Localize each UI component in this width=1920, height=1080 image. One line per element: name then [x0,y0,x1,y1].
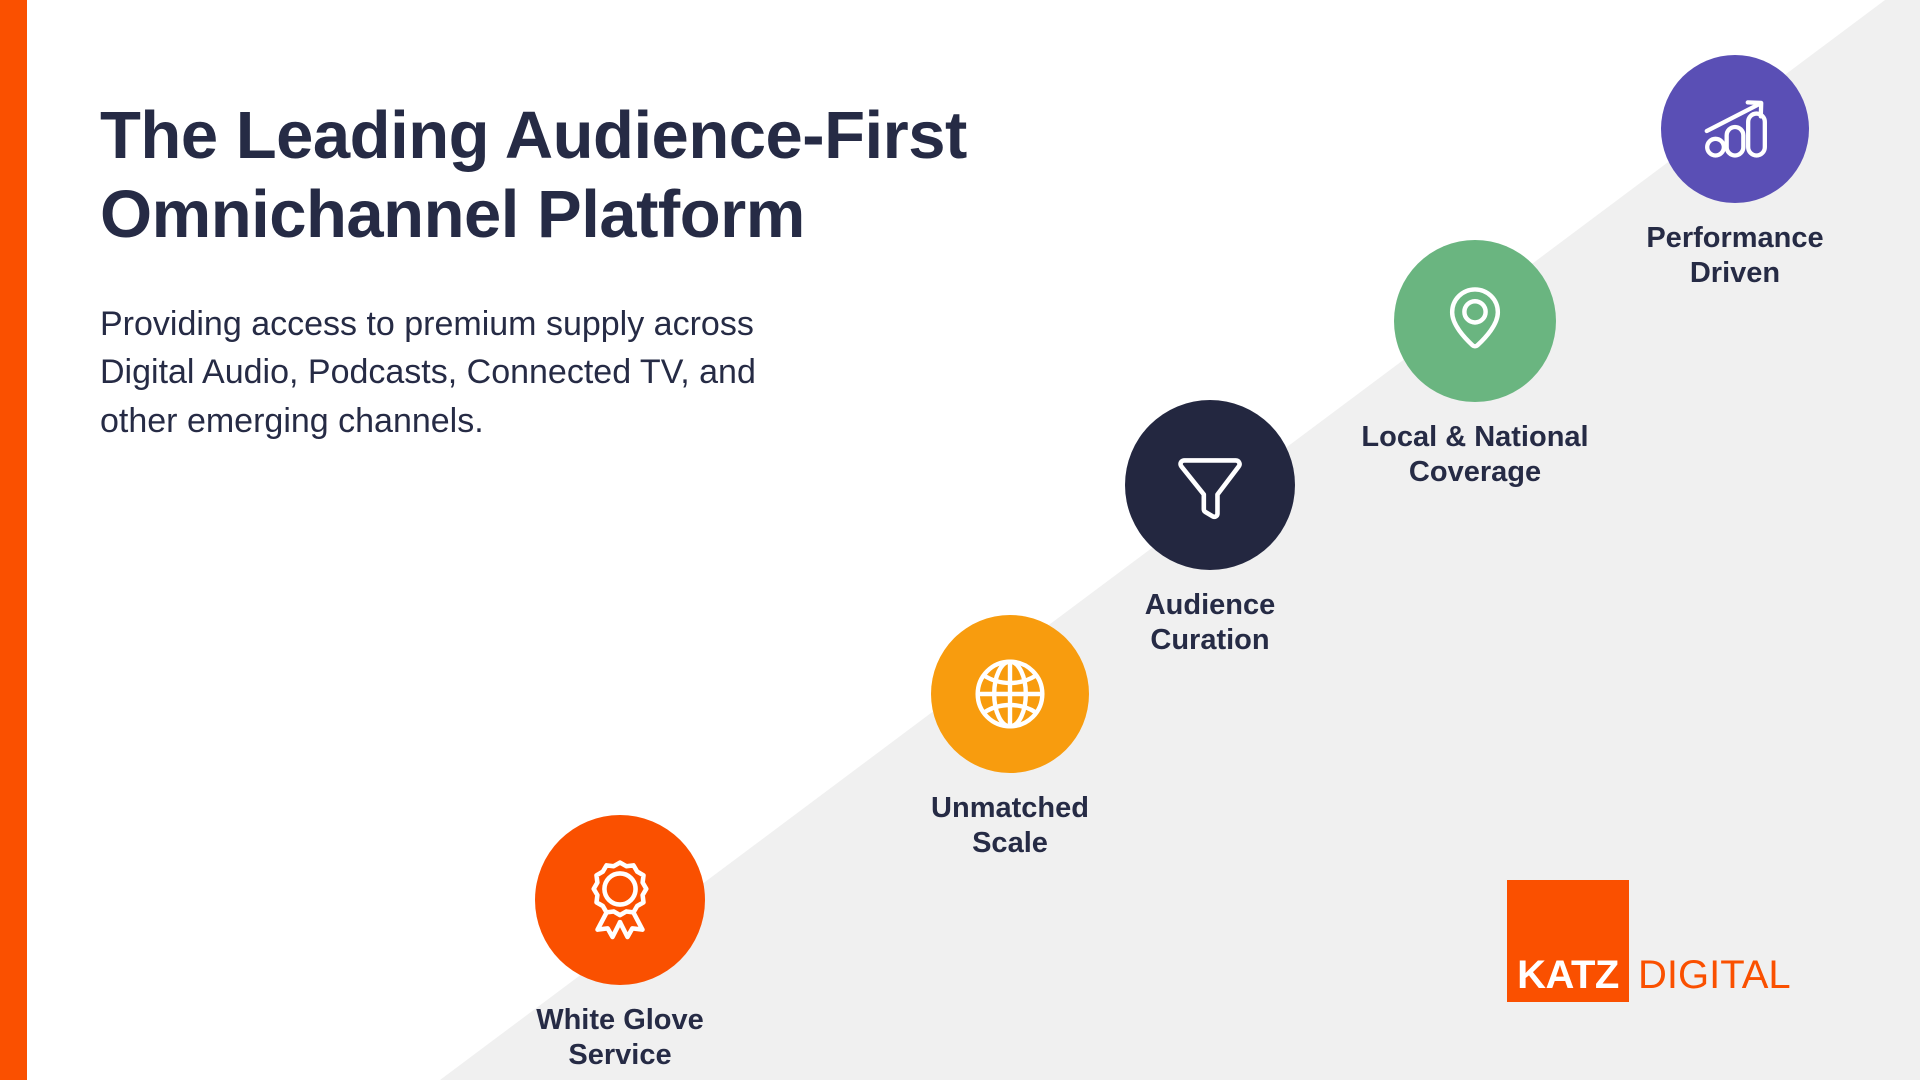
globe-icon [966,650,1054,738]
logo-orange-square: KATZ [1507,880,1629,1002]
feature-node-white-glove-service[interactable]: White Glove Service [475,815,765,1074]
feature-icon-circle-performance-driven [1661,55,1809,203]
feature-label-local-national-coverage: Local & National Coverage [1361,420,1588,491]
feature-node-performance-driven[interactable]: Performance Driven [1570,55,1900,292]
feature-label-white-glove-service: White Glove Service [536,1003,704,1074]
feature-node-audience-curation[interactable]: Audience Curation [1075,400,1345,659]
feature-icon-circle-white-glove-service [535,815,705,985]
feature-icon-circle-unmatched-scale [931,615,1089,773]
funnel-icon [1164,439,1256,531]
page-subtitle: Providing access to premium supply acros… [100,300,1000,445]
left-accent-bar [0,0,27,1080]
feature-icon-circle-audience-curation [1125,400,1295,570]
logo-katz-text: KATZ [1517,955,1619,1002]
logo-digital-text: DIGITAL [1629,955,1791,1002]
growth-chart-icon [1692,86,1778,172]
page-title: The Leading Audience-First Omnichannel P… [100,96,1260,254]
feature-icon-circle-local-national-coverage [1394,240,1556,402]
headline-copy-block: The Leading Audience-First Omnichannel P… [100,96,1260,445]
slide-canvas: The Leading Audience-First Omnichannel P… [0,0,1920,1080]
feature-label-unmatched-scale: Unmatched Scale [931,791,1089,862]
award-ribbon-icon [573,853,667,947]
katz-digital-logo[interactable]: KATZ DIGITAL [1507,880,1791,1002]
feature-label-audience-curation: Audience Curation [1145,588,1276,659]
map-pin-icon [1432,278,1518,364]
feature-label-performance-driven: Performance Driven [1646,221,1823,292]
